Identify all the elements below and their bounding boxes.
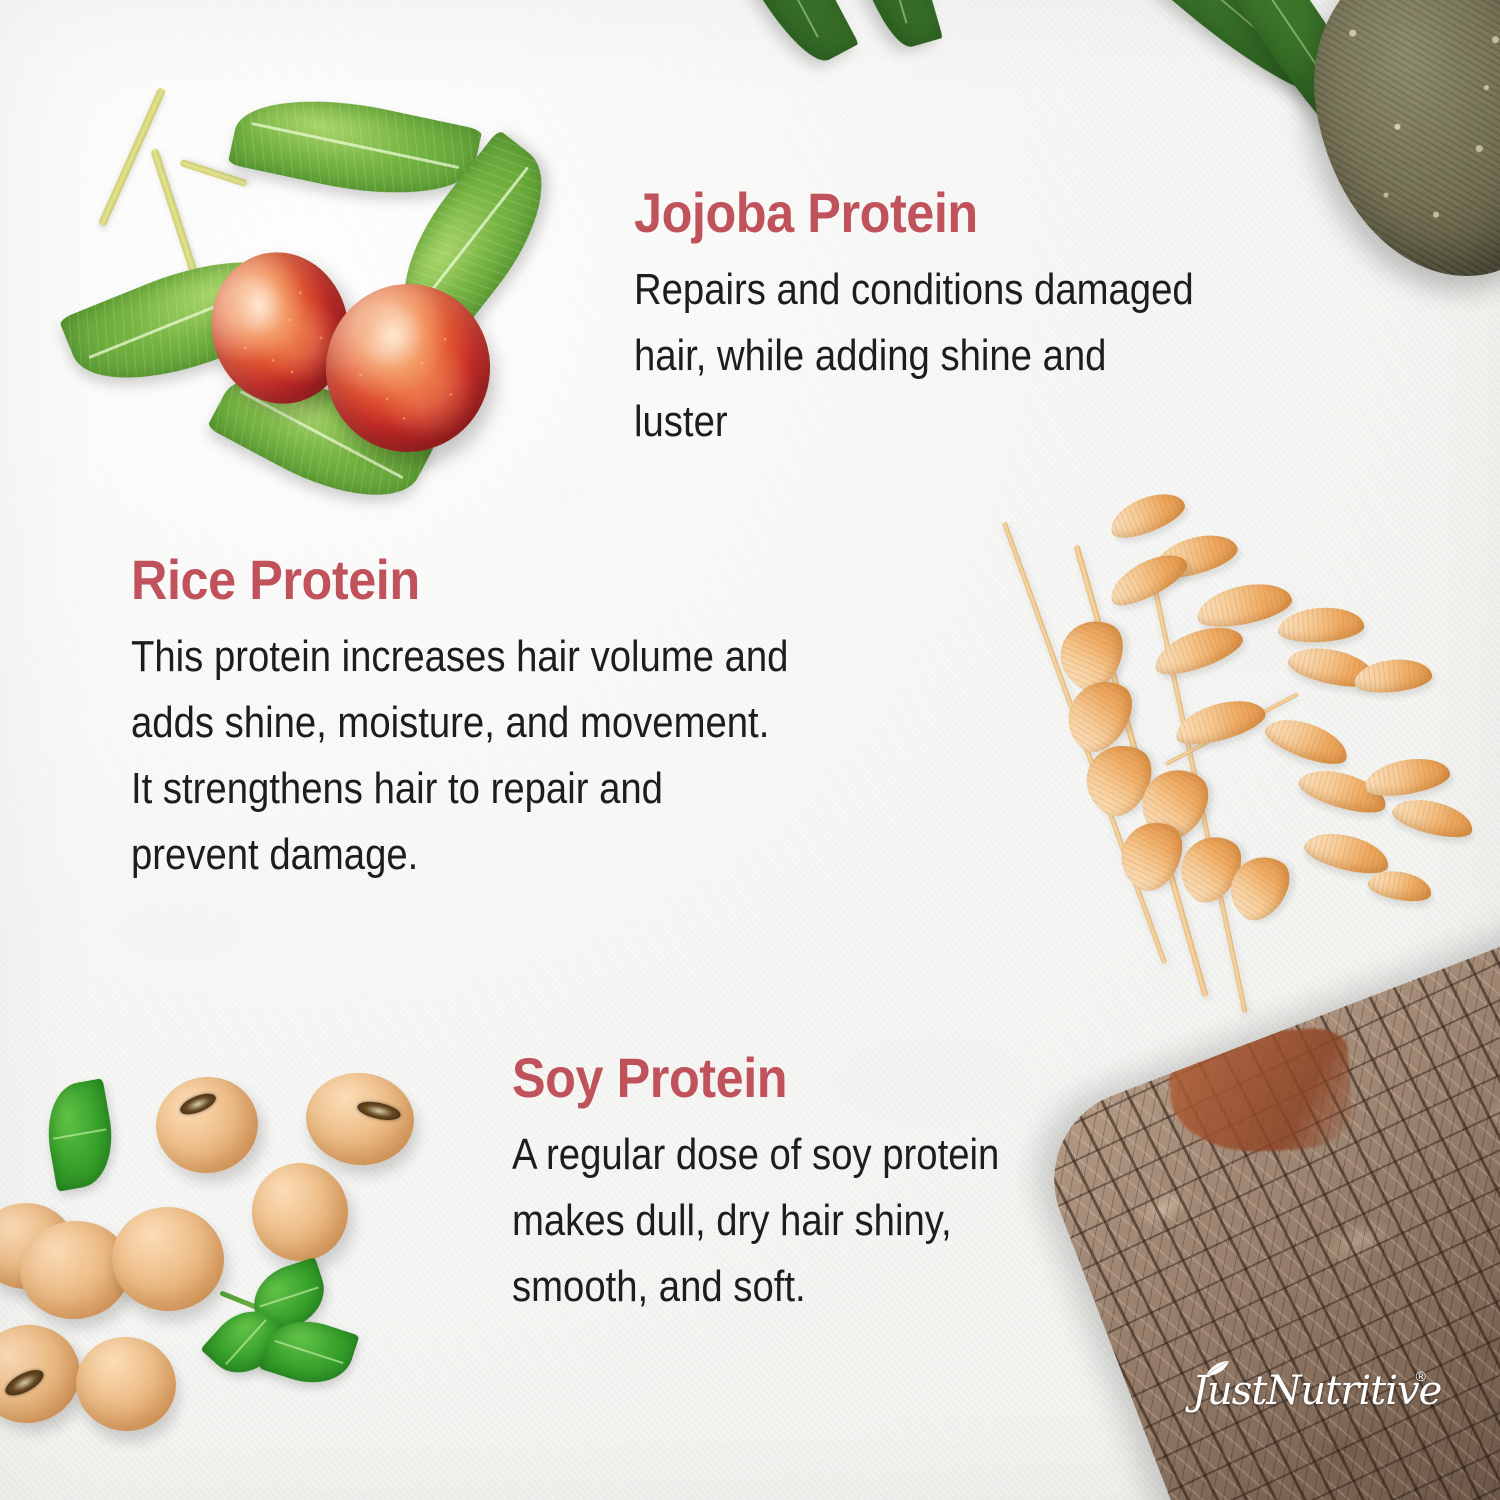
registered-mark: ® xyxy=(1416,1368,1426,1384)
rice-body-line-2: adds shine, moisture, and movement. xyxy=(131,690,788,756)
soy-heading: Soy Protein xyxy=(512,1050,1016,1106)
soy-body-line-2: makes dull, dry hair shiny, xyxy=(512,1188,999,1254)
rice-body: This protein increases hair volume and a… xyxy=(131,624,788,888)
rice-body-line-3: It strengthens hair to repair and xyxy=(131,756,788,822)
rice-heading: Rice Protein xyxy=(131,552,811,608)
jojoba-body-line-2: hair, while adding shine and xyxy=(634,323,1194,389)
jojoba-body: Repairs and conditions damaged hair, whi… xyxy=(634,257,1194,455)
brand-logo: JustNutritive ® xyxy=(1178,1362,1428,1434)
brand-wordmark: JustNutritive xyxy=(1192,1368,1441,1414)
rice-body-line-1: This protein increases hair volume and xyxy=(131,624,788,690)
rice-body-line-4: prevent damage. xyxy=(131,822,788,888)
soy-body-line-1: A regular dose of soy protein xyxy=(512,1122,999,1188)
soy-body-line-3: smooth, and soft. xyxy=(512,1254,999,1320)
infographic-canvas: Jojoba Protein Repairs and conditions da… xyxy=(0,0,1500,1500)
section-rice: Rice Protein This protein increases hair… xyxy=(131,552,887,888)
section-jojoba: Jojoba Protein Repairs and conditions da… xyxy=(634,185,1277,455)
jojoba-body-line-3: luster xyxy=(634,389,1194,455)
jojoba-heading: Jojoba Protein xyxy=(634,185,1213,241)
section-soy: Soy Protein A regular dose of soy protei… xyxy=(512,1050,1072,1320)
jojoba-body-line-1: Repairs and conditions damaged xyxy=(634,257,1194,323)
soy-body: A regular dose of soy protein makes dull… xyxy=(512,1122,999,1320)
